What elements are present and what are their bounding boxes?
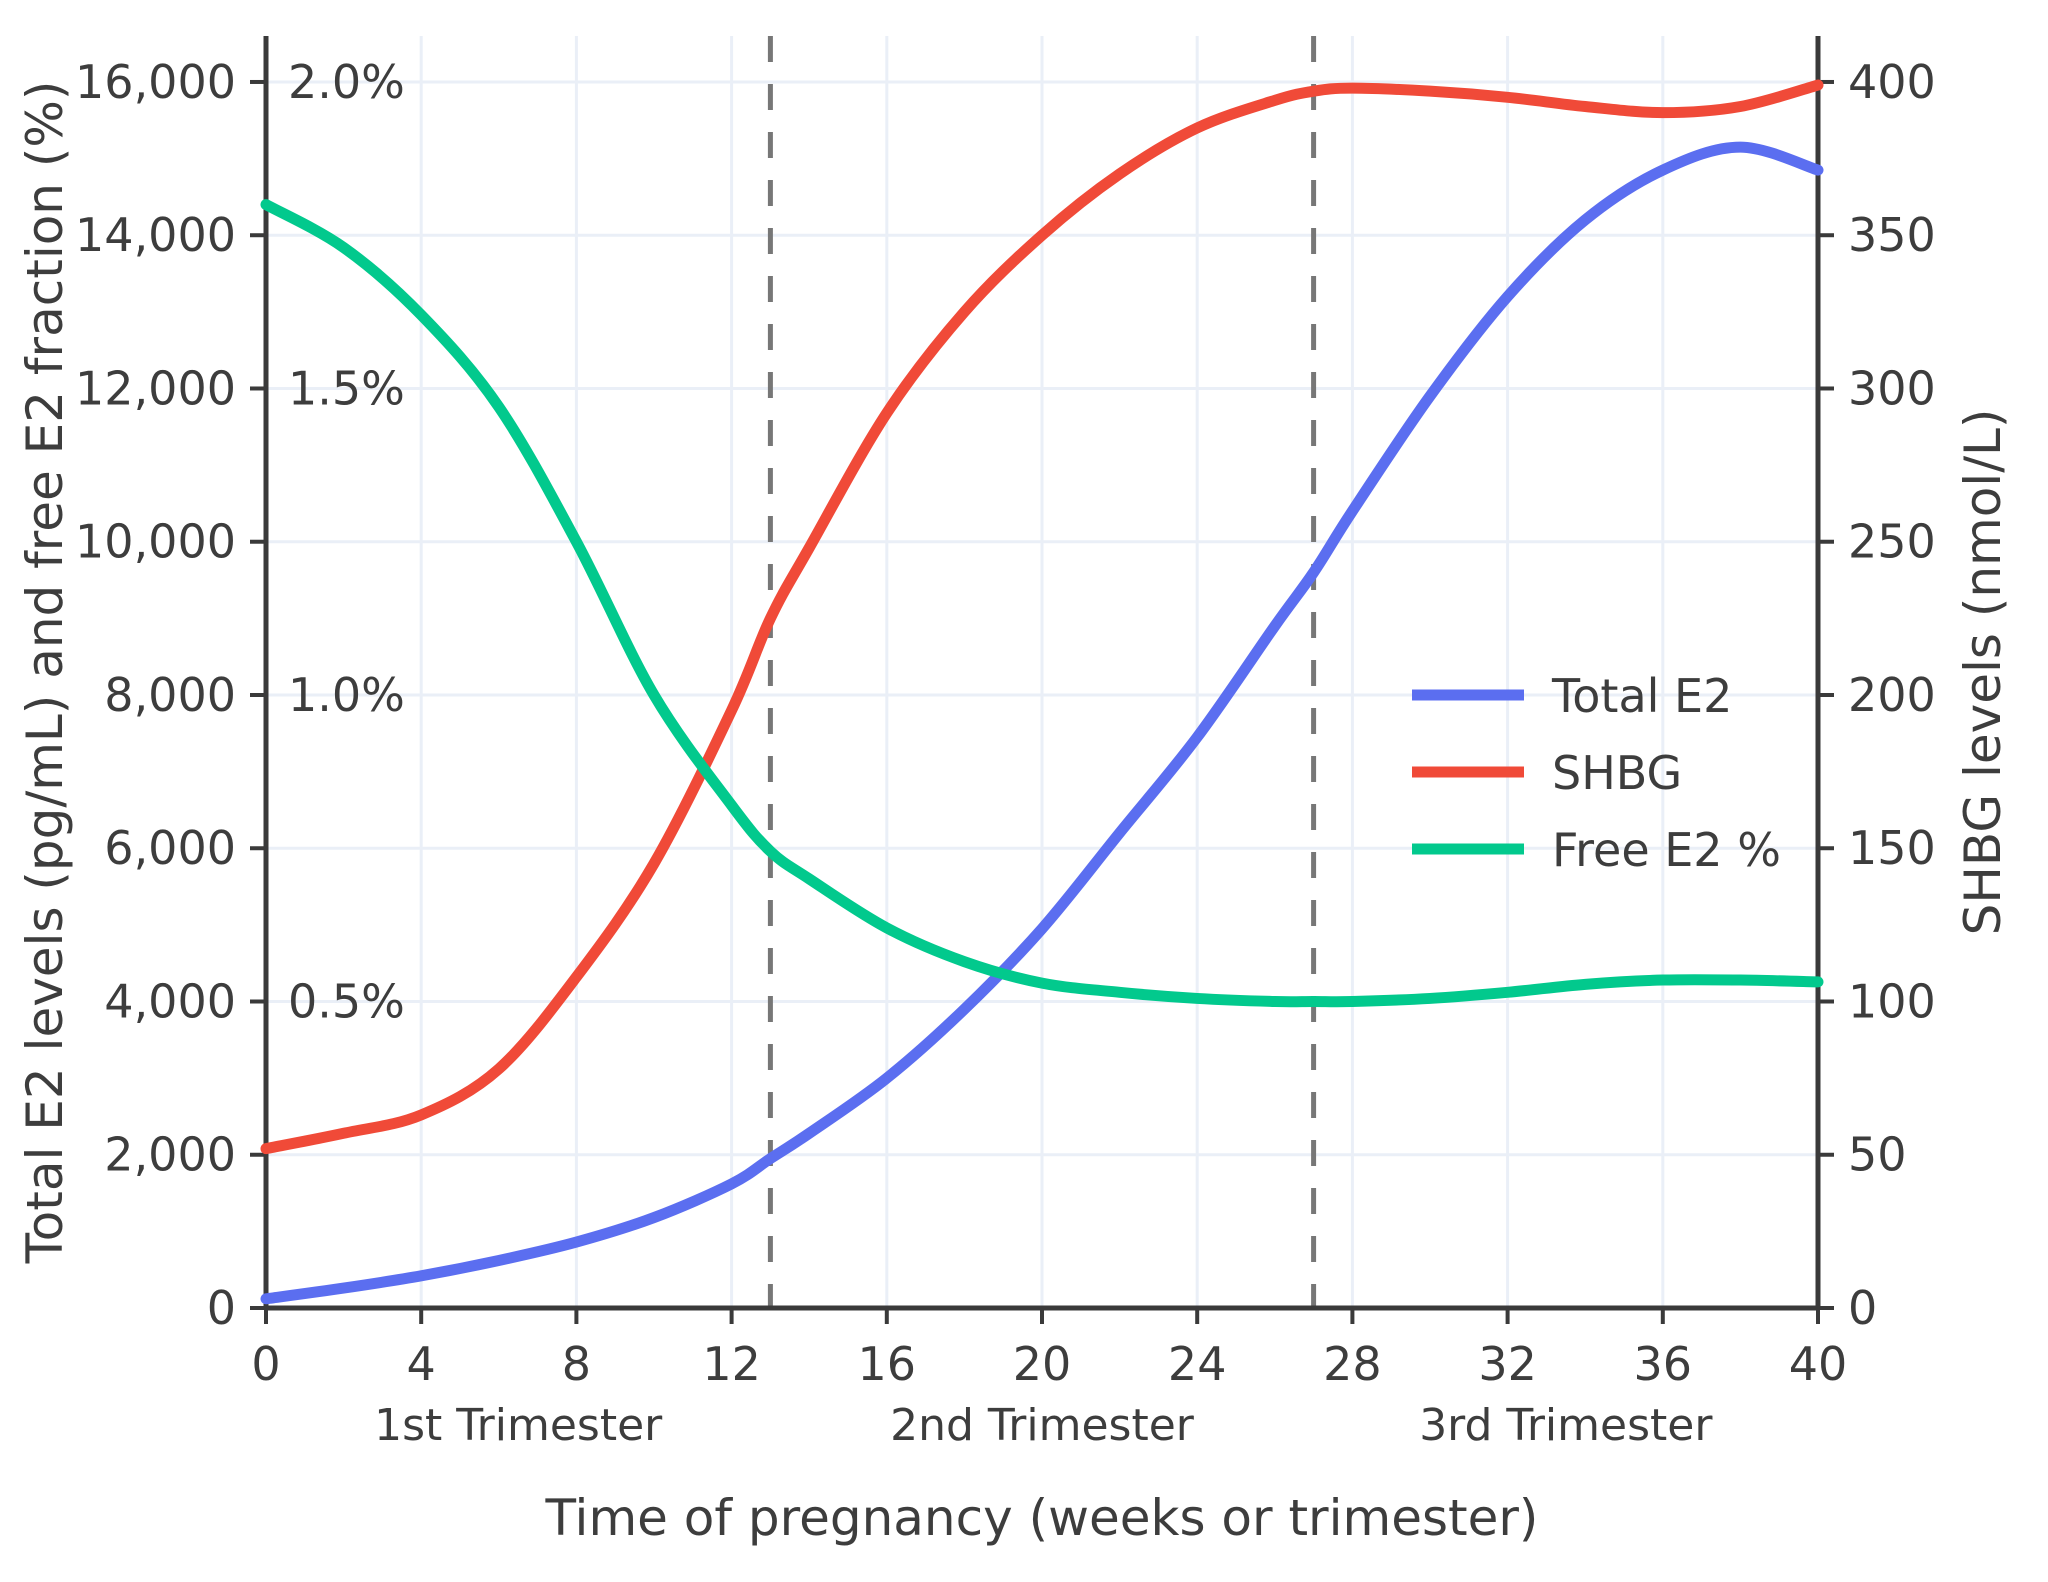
x-axis-tick-label: 36: [1634, 1337, 1693, 1391]
x-axis-tick-label: 32: [1478, 1337, 1537, 1391]
x-axis-tick-label: 4: [407, 1337, 436, 1391]
x-axis-tick-label: 28: [1323, 1337, 1382, 1391]
chart-container: 02,0004,0006,0008,00010,00012,00014,0001…: [0, 0, 2048, 1582]
y-axis-tick-label-right: 400: [1848, 55, 1936, 109]
trimester-band-label: 2nd Trimester: [890, 1400, 1195, 1451]
y-axis-tick-label-right: 50: [1848, 1128, 1907, 1182]
y-axis-tick-label-left: 4,000: [104, 974, 236, 1028]
y-axis-tick-label-right: 300: [1848, 361, 1936, 415]
y-axis-tick-label-right: 250: [1848, 515, 1936, 569]
trimester-band-label: 3rd Trimester: [1419, 1400, 1713, 1451]
x-axis-tick-label: 24: [1168, 1337, 1227, 1391]
y-axis-tick-label-right: 350: [1848, 208, 1936, 262]
free-e2-percent-annotation: 1.0%: [288, 668, 405, 722]
legend-label-total-e2: Total E2: [1551, 669, 1732, 723]
legend-label-shbg: SHBG: [1552, 746, 1682, 800]
x-axis-tick-label: 40: [1789, 1337, 1848, 1391]
y-axis-tick-label-left: 0: [207, 1281, 236, 1335]
y-axis-tick-label-left: 12,000: [75, 361, 236, 415]
x-axis-tick-label: 12: [702, 1337, 761, 1391]
y-axis-tick-label-right: 100: [1848, 974, 1936, 1028]
y-axis-tick-label-left: 16,000: [75, 55, 236, 109]
x-axis-tick-label: 20: [1013, 1337, 1072, 1391]
free-e2-percent-annotation: 1.5%: [288, 361, 405, 415]
free-e2-percent-annotation: 0.5%: [288, 974, 405, 1028]
y-axis-title-right: SHBG levels (nmol/L): [1954, 409, 2012, 936]
x-axis-tick-label: 0: [251, 1337, 280, 1391]
y-axis-tick-label-right: 200: [1848, 668, 1936, 722]
y-axis-tick-label-left: 14,000: [75, 208, 236, 262]
x-axis-title: Time of pregnancy (weeks or trimester): [545, 1489, 1539, 1547]
y-axis-tick-label-left: 2,000: [104, 1128, 236, 1182]
y-axis-tick-label-right: 0: [1848, 1281, 1877, 1335]
legend-label-free-e2: Free E2 %: [1552, 823, 1781, 877]
trimester-band-label: 1st Trimester: [374, 1400, 663, 1451]
y-axis-tick-label-left: 6,000: [104, 821, 236, 875]
y-axis-title-left: Total E2 levels (pg/mL) and free E2 frac…: [16, 81, 74, 1265]
y-axis-tick-label-right: 150: [1848, 821, 1936, 875]
y-axis-tick-label-left: 10,000: [75, 515, 236, 569]
x-axis-tick-label: 16: [858, 1337, 917, 1391]
x-axis-tick-label: 8: [562, 1337, 591, 1391]
free-e2-percent-annotation: 2.0%: [288, 55, 405, 109]
line-chart-figure: 02,0004,0006,0008,00010,00012,00014,0001…: [0, 0, 2048, 1582]
y-axis-tick-label-left: 8,000: [104, 668, 236, 722]
